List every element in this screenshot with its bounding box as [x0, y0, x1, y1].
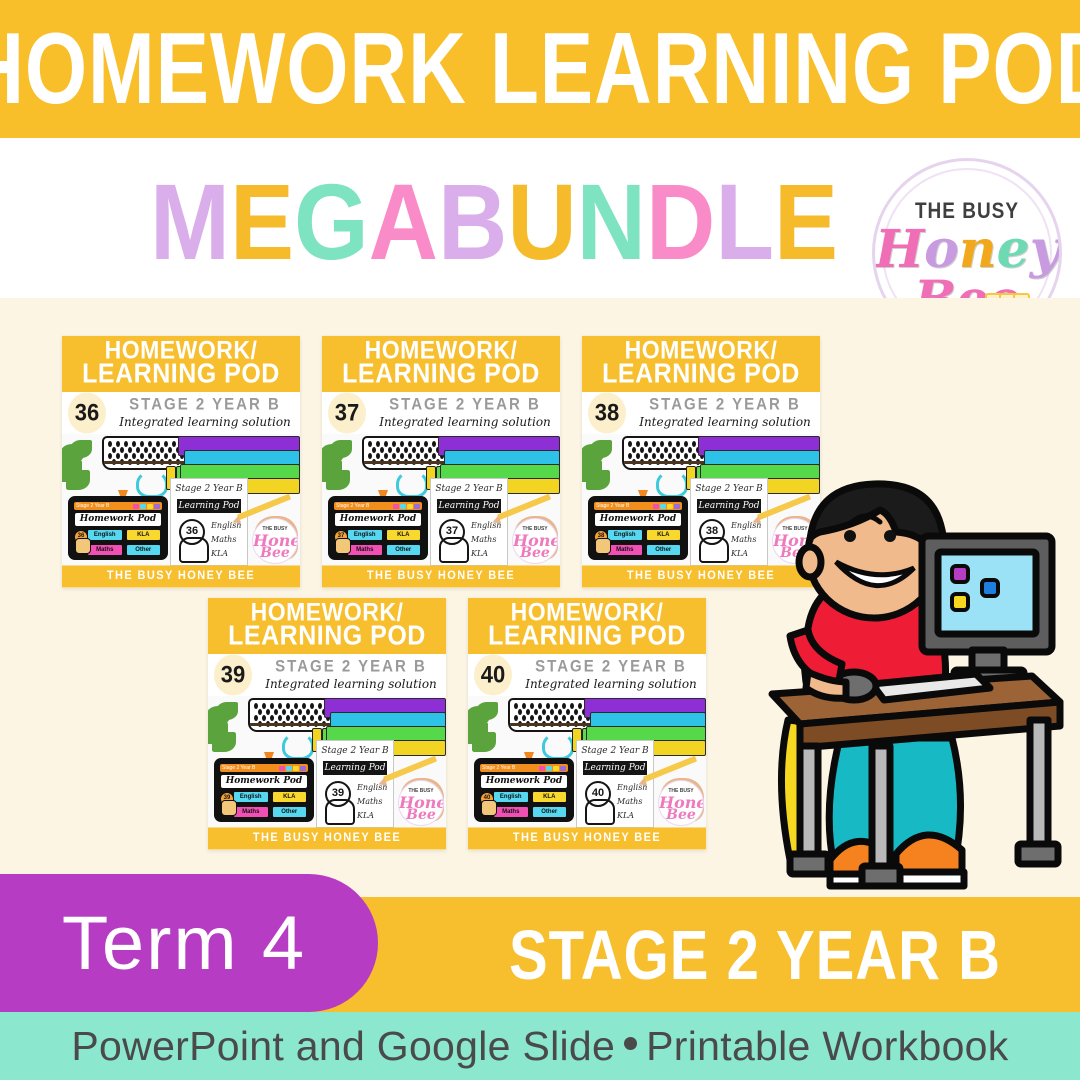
plant-leaf [472, 732, 496, 752]
dot [514, 715, 518, 721]
tablet-chip [154, 504, 160, 509]
tablet-buttons: EnglishKLAMathsOther [347, 529, 421, 556]
dot [562, 703, 566, 709]
dot [132, 441, 136, 447]
worksheet-subject: Maths [211, 535, 236, 544]
dot [652, 441, 656, 447]
tablet-stage-label: Stage 2 Year B [222, 764, 255, 772]
dot [164, 453, 168, 459]
card-preview-photo: Stage 2 Year BLearning Pod40EnglishMaths… [468, 696, 706, 828]
dot [404, 447, 408, 453]
dot [274, 709, 278, 715]
tablet-title: Homework Pod [335, 513, 421, 526]
card-stage-label: STAGE 2 YEAR B [114, 395, 296, 414]
tablet-preview: Stage 2 Year BHomework Pod38EnglishKLAMa… [588, 496, 688, 560]
dot [628, 441, 632, 447]
dot [424, 441, 428, 447]
boy-at-computer-desk-illustration [744, 470, 1080, 894]
dot [692, 441, 696, 447]
dot [530, 703, 534, 709]
card-number-badge: 37 [328, 392, 366, 433]
tablet-subject-button[interactable]: English [347, 529, 383, 541]
card-header: HOMEWORK/LEARNING POD [62, 336, 300, 392]
card-stage-label: STAGE 2 YEAR B [520, 657, 702, 676]
dot [164, 441, 168, 447]
tablet-subject-button[interactable]: KLA [532, 791, 568, 803]
dot [400, 453, 404, 459]
worksheet-subject: KLA [211, 549, 228, 558]
worksheet-subject: KLA [617, 811, 634, 820]
tablet-chip [414, 504, 420, 509]
poster-canvas: HOMEWORK LEARNING POD MEGABUNDLE THE BUS… [0, 0, 1080, 1080]
card-number-badge: 36 [68, 392, 106, 433]
dot [538, 715, 542, 721]
dot [384, 441, 388, 447]
dot [412, 447, 416, 453]
tablet-chip [560, 766, 566, 771]
stage-label: STAGE 2 YEAR B [430, 901, 1080, 1009]
card-subheader: 38STAGE 2 YEAR BIntegrated learning solu… [582, 392, 820, 434]
dot [148, 441, 152, 447]
tablet-title: Homework Pod [481, 775, 567, 788]
tablet-topbar: Stage 2 Year B [220, 764, 308, 772]
dot [286, 715, 290, 721]
dot [302, 715, 306, 721]
plant-leaf [66, 470, 90, 490]
plant-icon [208, 702, 250, 758]
mega-letter: E [774, 169, 838, 277]
dot [258, 709, 262, 715]
bullet-dot-icon [624, 1037, 637, 1050]
dot [550, 709, 554, 715]
tablet-stage-label: Stage 2 Year B [76, 502, 109, 510]
card-footer: THE BUSY HONEY BEE [322, 565, 560, 587]
dot [128, 447, 132, 453]
dot [156, 453, 160, 459]
dot [408, 453, 412, 459]
dot [672, 447, 676, 453]
dot [668, 453, 672, 459]
worksheet-stage: Stage 2 Year B [317, 746, 393, 756]
card-title-line2: LEARNING POD [488, 623, 686, 651]
plant-leaf [212, 732, 236, 752]
dot [108, 441, 112, 447]
tablet-subject-button[interactable]: Other [646, 544, 682, 556]
student-face-icon [699, 537, 729, 563]
dot [270, 703, 274, 709]
card-tagline: Integrated learning solution [634, 415, 816, 429]
card-tagline: Integrated learning solution [520, 677, 702, 691]
dot [546, 703, 550, 709]
dot [558, 709, 562, 715]
tablet-preview: Stage 2 Year BHomework Pod36EnglishKLAMa… [68, 496, 168, 560]
dot [254, 715, 258, 721]
dot [432, 441, 436, 447]
dot [140, 453, 144, 459]
card-number-badge: 38 [588, 392, 626, 433]
dot [298, 709, 302, 715]
dot [306, 709, 310, 715]
mega-letter: U [507, 169, 576, 277]
dot [514, 703, 518, 709]
tablet-subject-button[interactable]: English [493, 791, 529, 803]
dot [628, 453, 632, 459]
tablet-stage-label: Stage 2 Year B [482, 764, 515, 772]
dot [684, 453, 688, 459]
tablet-preview: Stage 2 Year BHomework Pod40EnglishKLAMa… [474, 758, 574, 822]
product-card[interactable]: HOMEWORK/LEARNING POD40STAGE 2 YEAR BInt… [468, 598, 706, 850]
tablet-chip [653, 504, 659, 509]
card-watermark-logo: THE BUSYHoneyBee [658, 780, 704, 826]
dot [680, 447, 684, 453]
tablet-subject-button[interactable]: Other [272, 806, 308, 818]
card-stage-label: STAGE 2 YEAR B [374, 395, 556, 414]
dot [156, 441, 160, 447]
dot [684, 441, 688, 447]
dot [534, 709, 538, 715]
plant-leaf [326, 470, 350, 490]
dot [172, 441, 176, 447]
tablet-chips [279, 766, 306, 771]
tablet-subject-button[interactable]: Maths [493, 806, 529, 818]
tablet-avatar-icon [481, 800, 497, 816]
card-preview-photo: Stage 2 Year BLearning Pod39EnglishMaths… [208, 696, 446, 828]
dot [262, 715, 266, 721]
tablet-subject-button[interactable]: Maths [87, 544, 123, 556]
scissors-icon [282, 732, 314, 760]
dot [570, 715, 574, 721]
tablet-subject-button[interactable]: English [87, 529, 123, 541]
tablet-subject-button[interactable]: Maths [233, 806, 269, 818]
dot [136, 447, 140, 453]
card-number-badge: 40 [474, 654, 512, 695]
tablet-chip [400, 504, 406, 509]
product-card[interactable]: HOMEWORK/LEARNING POD39STAGE 2 YEAR BInt… [208, 598, 446, 850]
tablet-subject-button[interactable]: KLA [126, 529, 162, 541]
tablet-subject-button[interactable]: KLA [386, 529, 422, 541]
student-face-icon [179, 537, 209, 563]
dot [368, 453, 372, 459]
term-label: Term 4 [12, 900, 306, 987]
card-tagline: Integrated learning solution [374, 415, 556, 429]
dot [636, 453, 640, 459]
card-tagline: Integrated learning solution [260, 677, 442, 691]
header-band: HOMEWORK LEARNING POD [0, 0, 1080, 138]
tablet-title: Homework Pod [221, 775, 307, 788]
tablet-chips [539, 766, 566, 771]
card-number-badge: 39 [214, 654, 252, 695]
dot [124, 441, 128, 447]
product-card[interactable]: HOMEWORK/LEARNING POD37STAGE 2 YEAR BInt… [322, 336, 560, 588]
card-footer: THE BUSY HONEY BEE [468, 827, 706, 849]
tablet-topbar: Stage 2 Year B [594, 502, 682, 510]
dot [254, 703, 258, 709]
dot [294, 715, 298, 721]
dot [574, 709, 578, 715]
dot [372, 447, 376, 453]
dot [692, 453, 696, 459]
dot [664, 447, 668, 453]
mega-bundle-title: MEGABUNDLE [150, 168, 790, 278]
dot [570, 703, 574, 709]
worksheet-title: Learning Pod [177, 499, 241, 513]
dot [542, 709, 546, 715]
dot [432, 453, 436, 459]
tablet-preview: Stage 2 Year BHomework Pod37EnglishKLAMa… [328, 496, 428, 560]
tablet-chip [286, 766, 292, 771]
dot [522, 703, 526, 709]
card-subheader: 39STAGE 2 YEAR BIntegrated learning solu… [208, 654, 446, 696]
dot [376, 453, 380, 459]
tablet-buttons: EnglishKLAMathsOther [493, 791, 567, 818]
dot [270, 715, 274, 721]
tablet-buttons: EnglishKLAMathsOther [607, 529, 681, 556]
student-face-icon [325, 799, 355, 825]
formats-band: PowerPoint and Google Slide Printable Wo… [0, 1012, 1080, 1080]
dot [168, 447, 172, 453]
dot [388, 447, 392, 453]
tablet-subject-button[interactable]: Other [532, 806, 568, 818]
tablet-subject-button[interactable]: Other [126, 544, 162, 556]
dot [144, 447, 148, 453]
card-title-line2: LEARNING POD [602, 361, 800, 389]
product-card[interactable]: HOMEWORK/LEARNING POD36STAGE 2 YEAR BInt… [62, 336, 300, 588]
dot [262, 703, 266, 709]
plant-leaf [216, 702, 238, 720]
tablet-preview: Stage 2 Year BHomework Pod39EnglishKLAMa… [214, 758, 314, 822]
dot [538, 703, 542, 709]
tablet-chips [653, 504, 680, 509]
dot [428, 447, 432, 453]
worksheet-stage: Stage 2 Year B [171, 484, 247, 494]
dot [278, 703, 282, 709]
card-subheader: 36STAGE 2 YEAR BIntegrated learning solu… [62, 392, 300, 434]
tablet-subject-button[interactable]: Maths [607, 544, 643, 556]
tablet-chips [133, 504, 160, 509]
plant-leaf [476, 702, 498, 720]
tablet-chip [546, 766, 552, 771]
watermark-bee: Bee [253, 545, 297, 561]
dot [314, 709, 318, 715]
dot [676, 441, 680, 447]
plant-leaf [586, 470, 610, 490]
card-header: HOMEWORK/LEARNING POD [322, 336, 560, 392]
tablet-title: Homework Pod [75, 513, 161, 526]
tablet-subject-button[interactable]: English [607, 529, 643, 541]
dot [640, 447, 644, 453]
tablet-title: Homework Pod [595, 513, 681, 526]
dot [554, 703, 558, 709]
watermark-bee: Bee [659, 807, 703, 823]
dot [116, 453, 120, 459]
tablet-chips [393, 504, 420, 509]
dot [392, 453, 396, 459]
tablet-chip [393, 504, 399, 509]
tablet-buttons: EnglishKLAMathsOther [87, 529, 161, 556]
tablet-chip [300, 766, 306, 771]
tablet-topbar: Stage 2 Year B [480, 764, 568, 772]
dot [668, 441, 672, 447]
dot [368, 441, 372, 447]
plant-leaf [70, 440, 92, 458]
dot [140, 441, 144, 447]
dot [282, 709, 286, 715]
dot [416, 453, 420, 459]
tablet-buttons: EnglishKLAMathsOther [233, 791, 307, 818]
dot [530, 715, 534, 721]
dot [266, 709, 270, 715]
card-stage-label: STAGE 2 YEAR B [260, 657, 442, 676]
dot [648, 447, 652, 453]
tablet-stage-label: Stage 2 Year B [336, 502, 369, 510]
dot [290, 709, 294, 715]
dot [132, 453, 136, 459]
worksheet-subject: Maths [471, 535, 496, 544]
dot [632, 447, 636, 453]
dot [294, 703, 298, 709]
dot [160, 447, 164, 453]
worksheet-title: Learning Pod [437, 499, 501, 513]
scissors-icon [656, 470, 688, 498]
plant-icon [322, 440, 364, 496]
worksheet-subject: KLA [471, 549, 488, 558]
tablet-subject-button[interactable]: Other [386, 544, 422, 556]
worksheet-title: Learning Pod [323, 761, 387, 775]
tablet-avatar-icon [221, 800, 237, 816]
card-subheader: 37STAGE 2 YEAR BIntegrated learning solu… [322, 392, 560, 434]
dot [420, 447, 424, 453]
scissors-icon [542, 732, 574, 760]
card-header: HOMEWORK/LEARNING POD [468, 598, 706, 654]
worksheet-stage: Stage 2 Year B [431, 484, 507, 494]
dot [116, 441, 120, 447]
dot [578, 703, 582, 709]
dot [286, 703, 290, 709]
watermark-bee: Bee [513, 545, 557, 561]
dot [172, 453, 176, 459]
card-header: HOMEWORK/LEARNING POD [208, 598, 446, 654]
mega-letter: B [438, 169, 507, 277]
dot [318, 703, 322, 709]
dot [396, 447, 400, 453]
tablet-subject-button[interactable]: Maths [347, 544, 383, 556]
card-stage-label: STAGE 2 YEAR B [634, 395, 816, 414]
dot [566, 709, 570, 715]
tablet-chip [660, 504, 666, 509]
tablet-chip [133, 504, 139, 509]
dot [376, 441, 380, 447]
mega-letter: N [577, 169, 646, 277]
dot [380, 447, 384, 453]
dot [562, 715, 566, 721]
tablet-chip [279, 766, 285, 771]
dot [120, 447, 124, 453]
dot [644, 441, 648, 447]
dot [416, 441, 420, 447]
worksheet-subject: KLA [357, 811, 374, 820]
tablet-topbar: Stage 2 Year B [74, 502, 162, 510]
formats-right-label: Printable Workbook [646, 1023, 1008, 1070]
tablet-chip [407, 504, 413, 509]
card-watermark-logo: THE BUSYHoneyBee [398, 780, 444, 826]
mega-letter: E [230, 169, 294, 277]
dot [676, 453, 680, 459]
plant-icon [62, 440, 104, 496]
card-subheader: 40STAGE 2 YEAR BIntegrated learning solu… [468, 654, 706, 696]
tablet-chip [140, 504, 146, 509]
dot [578, 715, 582, 721]
dot [148, 453, 152, 459]
dot [660, 453, 664, 459]
dot [384, 453, 388, 459]
worksheet-title: Learning Pod [583, 761, 647, 775]
tablet-chip [147, 504, 153, 509]
tablet-avatar-icon [75, 538, 91, 554]
dot [424, 453, 428, 459]
dot [318, 715, 322, 721]
tablet-subject-button[interactable]: KLA [646, 529, 682, 541]
student-face-icon [585, 799, 615, 825]
tablet-subject-button[interactable]: English [233, 791, 269, 803]
dot [108, 453, 112, 459]
dot [310, 715, 314, 721]
mega-letter: D [646, 169, 715, 277]
term-badge: Term 4 [0, 874, 378, 1012]
tablet-stage-label: Stage 2 Year B [596, 502, 629, 510]
formats-left-label: PowerPoint and Google Slide [71, 1023, 615, 1070]
mega-letter: A [369, 169, 438, 277]
card-title-line2: LEARNING POD [342, 361, 540, 389]
card-footer: THE BUSY HONEY BEE [62, 565, 300, 587]
dot [278, 715, 282, 721]
worksheet-subject: Maths [357, 797, 382, 806]
page-title: HOMEWORK LEARNING POD [0, 18, 1080, 119]
dot [112, 447, 116, 453]
tablet-chip [539, 766, 545, 771]
dot [652, 453, 656, 459]
tablet-chip [553, 766, 559, 771]
card-tagline: Integrated learning solution [114, 415, 296, 429]
tablet-topbar: Stage 2 Year B [334, 502, 422, 510]
worksheet-subject: Maths [617, 797, 642, 806]
tablet-chip [293, 766, 299, 771]
student-face-icon [439, 537, 469, 563]
tablet-subject-button[interactable]: KLA [272, 791, 308, 803]
card-footer: THE BUSY HONEY BEE [208, 827, 446, 849]
card-title-line2: LEARNING POD [82, 361, 280, 389]
tablet-avatar-icon [595, 538, 611, 554]
card-watermark-logo: THE BUSYHoneyBee [252, 518, 298, 564]
dot [656, 447, 660, 453]
tablet-avatar-icon [335, 538, 351, 554]
watermark-bee: Bee [399, 807, 443, 823]
dot [546, 715, 550, 721]
dot [688, 447, 692, 453]
dot [636, 441, 640, 447]
dot [644, 453, 648, 459]
dot [554, 715, 558, 721]
card-title-line2: LEARNING POD [228, 623, 426, 651]
dot [152, 447, 156, 453]
mega-letter: G [294, 169, 369, 277]
card-header: HOMEWORK/LEARNING POD [582, 336, 820, 392]
plant-icon [582, 440, 624, 496]
dot [518, 709, 522, 715]
plant-icon [468, 702, 510, 758]
dot [408, 441, 412, 447]
dot [660, 441, 664, 447]
dot [400, 441, 404, 447]
